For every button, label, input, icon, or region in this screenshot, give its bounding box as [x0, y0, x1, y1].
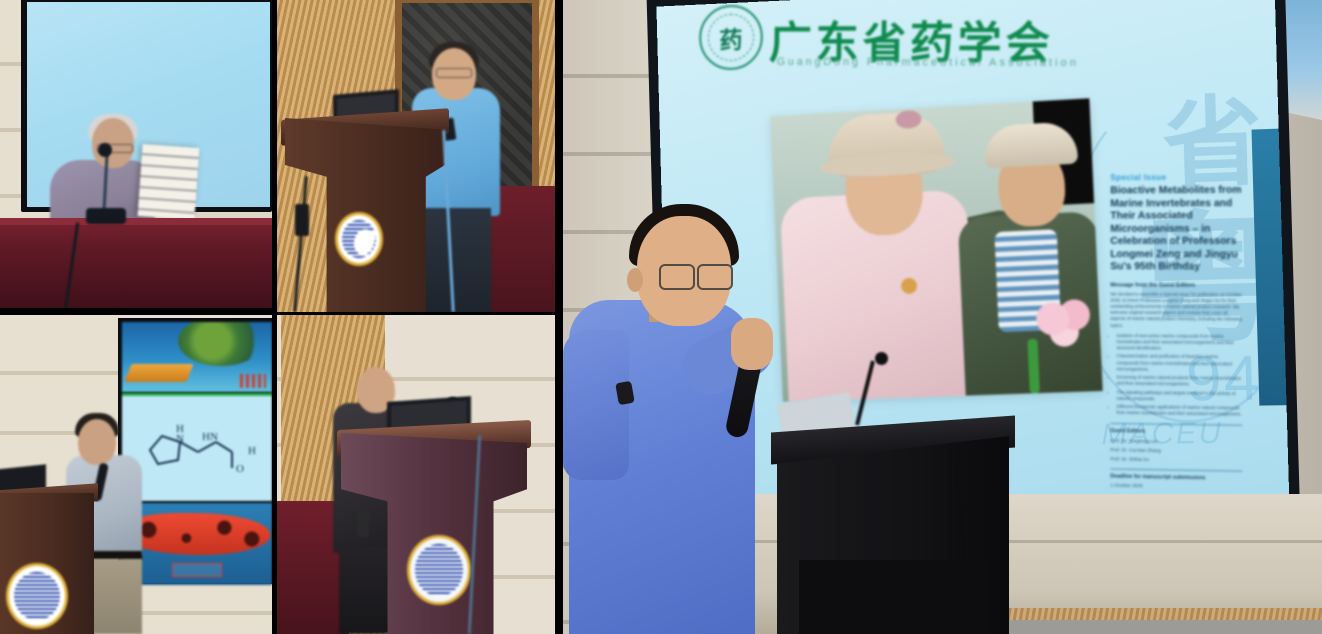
topic-item: Screening of marine natural products fro… — [1116, 375, 1242, 389]
guest-editor: Prof. Dr. Shihai Xu — [1110, 457, 1242, 464]
message-body: We decided to assemble a Special Issue f… — [1110, 291, 1242, 330]
chinese-caption-label — [240, 374, 266, 388]
cable-adapter — [295, 204, 309, 236]
institution-emblem — [335, 212, 383, 266]
speaker-legs — [423, 208, 491, 312]
foreground-speaker-sleeve — [563, 330, 629, 480]
highlight-box — [172, 563, 222, 577]
association-logo: 药 — [698, 4, 763, 72]
presenter-head — [78, 419, 116, 465]
draped-table — [0, 218, 272, 308]
foreground-speaker-hand — [731, 318, 773, 370]
lectern-microphone-icon — [875, 352, 888, 365]
topic-item: The signaling pathways and targets invol… — [1116, 389, 1242, 403]
molecule-diagram: H N HN O H — [136, 410, 266, 487]
collage-panel-right: 药 广东省药学会 GuangDong Pharmaceutical Associ… — [563, 0, 1322, 634]
topic-item: Characterization and purification of bio… — [1116, 354, 1242, 374]
organization-name-en: GuangDong Pharmaceutical Association — [777, 56, 1080, 69]
collage-panel-bottom-left: H N HN O H — [0, 315, 272, 634]
name-badge — [357, 511, 369, 537]
deadline-heading: Deadline for manuscript submissions — [1110, 474, 1242, 482]
handwritten-paper — [138, 144, 200, 220]
coral-image — [178, 322, 264, 366]
special-issue-panel: Special Issue Bioactive Metabolites from… — [1110, 172, 1242, 490]
topic-item: Different therapeutic applications of ma… — [1116, 404, 1242, 418]
special-issue-title: Bioactive Metabolites from Marine Invert… — [1110, 185, 1242, 274]
photo-collage: H N HN O H — [0, 0, 1322, 634]
red-sponge-image — [122, 513, 270, 555]
slide-chemical-structure: H N HN O H — [122, 393, 272, 501]
svg-text:H: H — [248, 445, 256, 457]
svg-text:N: N — [176, 433, 184, 445]
special-issue-kicker: Special Issue — [1110, 172, 1242, 182]
slide-sponge-photo — [122, 503, 272, 585]
microphone-base — [86, 208, 126, 224]
logo-character: 药 — [701, 19, 762, 56]
collage-panel-top-left — [0, 0, 272, 308]
eyeglasses-icon — [659, 264, 735, 288]
guest-editors-heading: Guest Editors — [1110, 428, 1242, 436]
institution-emblem — [6, 563, 68, 629]
divider — [1110, 469, 1242, 472]
couple-photograph — [770, 98, 1102, 401]
topic-item: Isolation of new active marine compounds… — [1116, 333, 1242, 353]
molecule-svg: H N HN O H — [136, 410, 272, 490]
lectern-base — [799, 560, 989, 634]
svg-text:O: O — [236, 463, 244, 475]
pink-flower — [1034, 296, 1097, 351]
microphone-icon — [98, 143, 112, 157]
message-heading: Message from the Guest Editors — [1110, 282, 1242, 289]
institution-emblem — [407, 535, 471, 605]
deadline-date: 1 October 2025 — [1110, 483, 1242, 491]
topics-list: Isolation of new active marine compounds… — [1110, 333, 1242, 418]
guest-editor: Prof. Dr. Cui-Nan Zhang — [1110, 448, 1242, 455]
svg-text:HN: HN — [202, 431, 218, 443]
sample-slab — [124, 364, 193, 382]
seated-man-head — [92, 118, 134, 168]
foreground-speaker-ear — [627, 268, 643, 292]
guest-editor: Prof. Dr. Yonghong Liu — [1110, 439, 1242, 446]
slide-marine-photo — [122, 322, 272, 392]
collage-panel-top-middle — [277, 0, 555, 312]
hat-flower-decoration — [895, 110, 921, 129]
floor — [993, 620, 1322, 634]
divider — [1110, 423, 1242, 426]
collage-panel-bottom-middle — [277, 315, 555, 634]
eyeglasses-icon — [436, 68, 472, 78]
